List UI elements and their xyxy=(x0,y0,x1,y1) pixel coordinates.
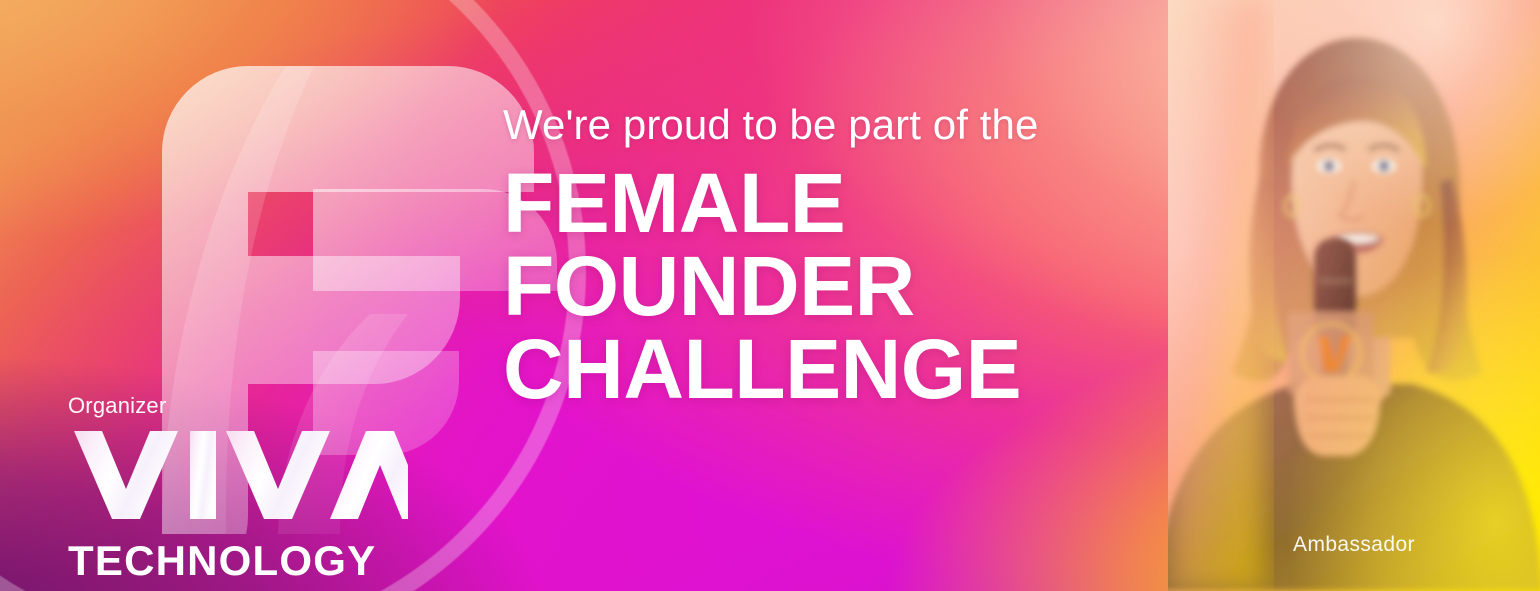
ambassador-portrait: Ambassador xyxy=(1168,0,1540,591)
tagline-text: We're proud to be part of the xyxy=(503,104,1143,146)
organizer-label: Organizer xyxy=(68,393,408,419)
viva-technology-wordmark: TECHNOLOGY xyxy=(68,540,408,582)
headline-line-1: FEMALE xyxy=(503,162,1143,245)
organizer-block: Organizer xyxy=(68,393,408,582)
headline-text: FEMALE FOUNDER CHALLENGE xyxy=(503,162,1143,411)
ambassador-label: Ambassador xyxy=(1168,533,1540,557)
viva-technology-logo: TECHNOLOGY xyxy=(68,427,408,582)
headline-line-2: FOUNDER xyxy=(503,245,1143,328)
headline-line-3: CHALLENGE xyxy=(503,328,1143,411)
female-founder-challenge-banner: We're proud to be part of the FEMALE FOU… xyxy=(0,0,1540,591)
headline-block: We're proud to be part of the FEMALE FOU… xyxy=(503,104,1143,411)
